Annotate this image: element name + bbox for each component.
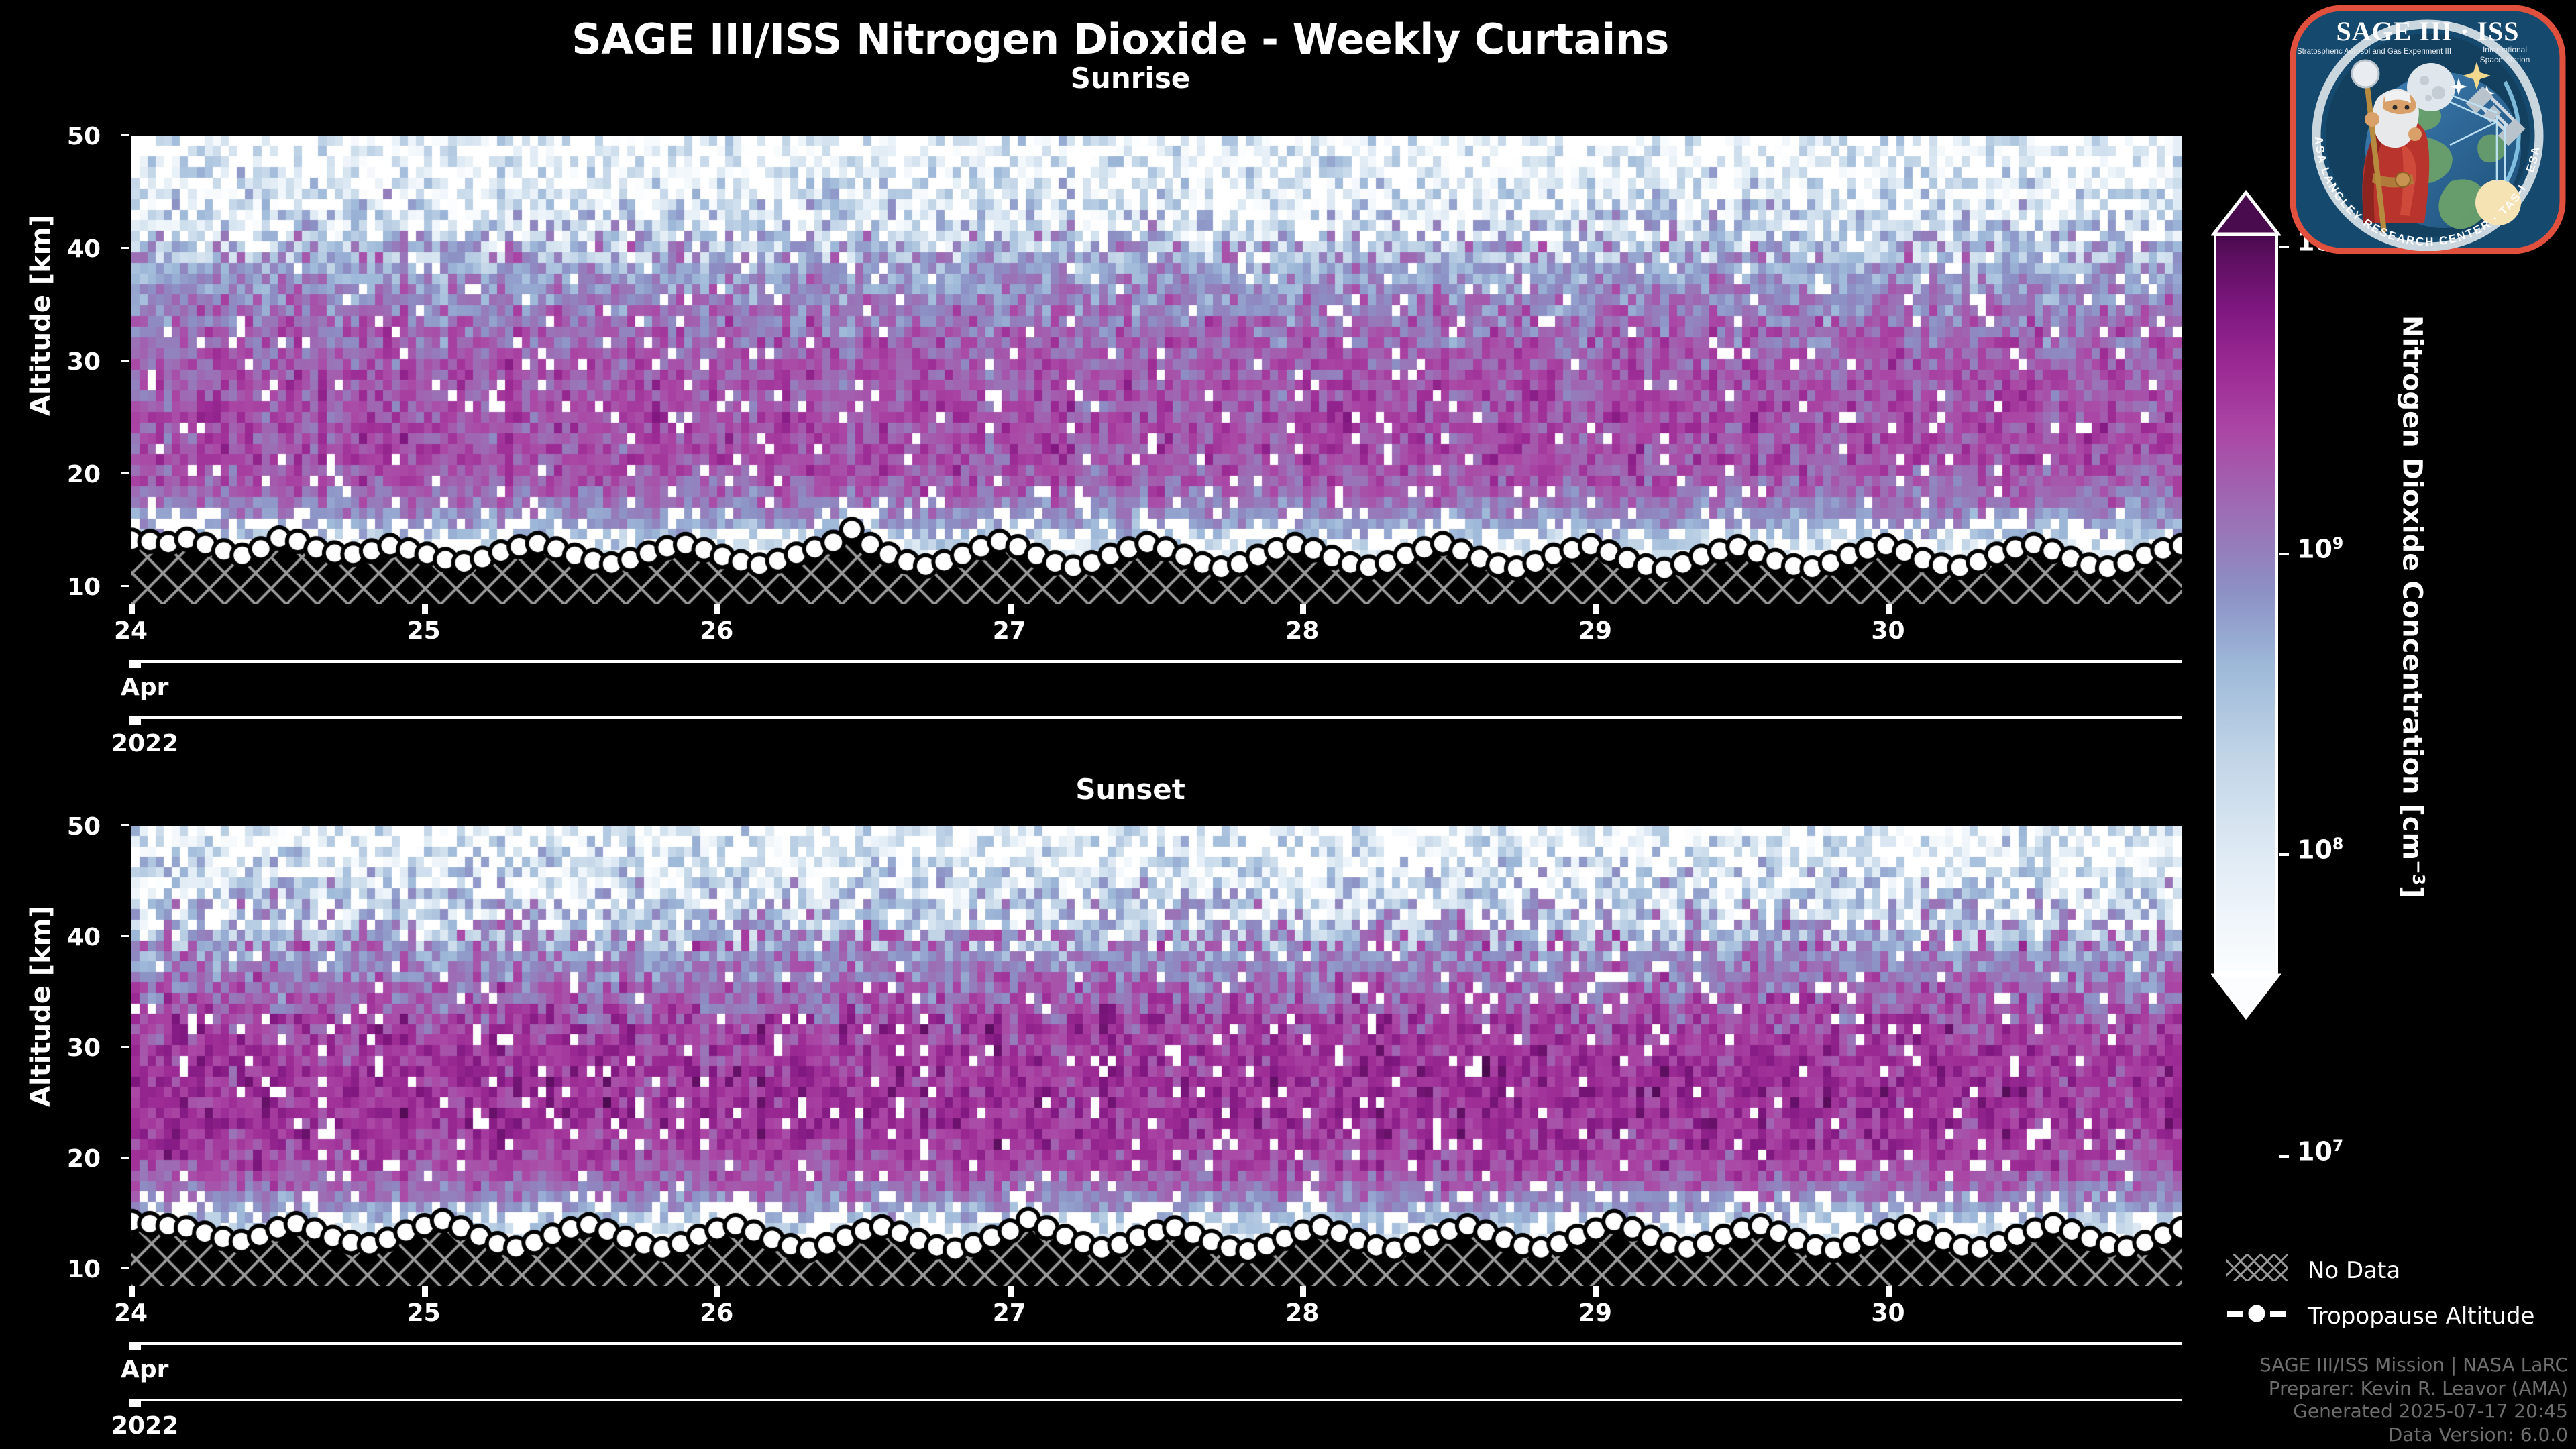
- x-tick-label-26: 26: [700, 617, 733, 645]
- y-tick-20-sunrise: 20: [27, 461, 101, 488]
- colorbar-tick-label-1e8: 108: [2297, 835, 2343, 865]
- x-tick-label-25: 25: [407, 617, 441, 645]
- colorbar-extend-up-icon: [2211, 190, 2281, 238]
- logo-subtitle-right-1: International: [2483, 45, 2527, 54]
- heatmap-canvas-sunrise: [131, 136, 2182, 604]
- x-tick-mark-28: [1300, 1286, 1306, 1297]
- x-year-bracket-nub: [129, 1399, 141, 1407]
- figure-canvas: SAGE III/ISS Nitrogen Dioxide - Weekly C…: [0, 0, 2576, 1449]
- page-title: SAGE III/ISS Nitrogen Dioxide - Weekly C…: [0, 15, 2241, 64]
- x-tick-label-28: 28: [1285, 1299, 1319, 1327]
- logo-title: SAGE III · ISS: [2336, 16, 2519, 46]
- logo-subtitle-left: Stratospheric Aerosol and Gas Experiment…: [2297, 48, 2451, 56]
- colorbar-tick-mark-1e7: [2279, 1155, 2289, 1158]
- colorbar-tick-mark-1e8: [2279, 853, 2289, 856]
- x-tick-label-24: 24: [114, 1299, 148, 1327]
- colorbar-axis-label: Nitrogen Dioxide Concentration [cm−3]: [2397, 315, 2428, 898]
- colorbar-axis-label-tail: ]: [2397, 885, 2428, 898]
- y-tick-mark-50-sunset: [121, 824, 129, 826]
- colorbar-extend-down-icon: [2211, 971, 2281, 1020]
- x-tick-label-27: 27: [993, 1299, 1026, 1327]
- x-tick-mark-27: [1008, 1286, 1014, 1297]
- colorbar-tick-exponent-1e8: 8: [2332, 835, 2343, 853]
- x-tick-label-25: 25: [407, 1299, 441, 1327]
- y-tick-10-sunrise: 10: [27, 574, 101, 601]
- y-tick-mark-50-sunrise: [121, 134, 129, 136]
- x-tick-mark-29: [1593, 1286, 1599, 1297]
- colorbar-tick-mantissa-1e9: 10: [2297, 535, 2332, 564]
- x-tick-label-26: 26: [700, 1299, 733, 1327]
- x-month-bracket-nub: [129, 660, 141, 668]
- x-year-bracket-line: [131, 716, 2182, 719]
- x-tick-label-30: 30: [1871, 1299, 1904, 1327]
- heatmap-plot-sunset[interactable]: [131, 826, 2182, 1286]
- colorbar-tick-mark-1e9: [2279, 553, 2289, 555]
- colorbar-tick-exponent-1e7: 7: [2332, 1136, 2343, 1155]
- y-tick-mark-10-sunset: [121, 1267, 129, 1269]
- x-tick-mark-25: [422, 604, 428, 614]
- x-year-bracket-nub: [129, 716, 141, 724]
- y-tick-mark-30-sunrise: [121, 360, 129, 362]
- y-tick-mark-20-sunset: [121, 1157, 129, 1159]
- x-tick-mark-30: [1886, 1286, 1892, 1297]
- colorbar-tick-label-1e9: 109: [2297, 534, 2343, 564]
- x-year-label: 2022: [111, 730, 178, 757]
- footer-line-preparer: Preparer: Kevin R. Leavor (AMA): [2259, 1377, 2568, 1401]
- x-year-bracket-line: [131, 1399, 2182, 1401]
- tropopause-marker-icon: [2226, 1300, 2288, 1327]
- footer-line-version: Data Version: 6.0.0: [2259, 1424, 2568, 1447]
- y-tick-40-sunset: 40: [27, 924, 101, 951]
- x-tick-mark-29: [1593, 604, 1599, 614]
- x-month-label: Apr: [121, 674, 168, 701]
- x-tick-label-24: 24: [114, 617, 148, 645]
- x-tick-mark-30: [1886, 604, 1892, 614]
- heatmap-plot-sunrise[interactable]: [131, 136, 2182, 604]
- x-tick-mark-28: [1300, 604, 1306, 614]
- x-tick-label-29: 29: [1578, 1299, 1612, 1327]
- footer-line-generated: Generated 2025-07-17 20:45: [2259, 1400, 2568, 1424]
- colorbar-axis-label-main: Nitrogen Dioxide Concentration [cm: [2397, 315, 2428, 860]
- y-tick-10-sunset: 10: [27, 1256, 101, 1283]
- x-month-bracket-line: [131, 1342, 2182, 1345]
- x-tick-mark-27: [1008, 604, 1014, 614]
- x-year-label: 2022: [111, 1412, 178, 1440]
- x-tick-label-29: 29: [1578, 617, 1612, 645]
- colorbar-tick-mantissa-1e7: 10: [2297, 1137, 2332, 1167]
- y-tick-mark-30-sunset: [121, 1046, 129, 1048]
- x-tick-label-30: 30: [1871, 617, 1904, 645]
- y-tick-30-sunrise: 30: [27, 348, 101, 376]
- y-tick-50-sunset: 50: [27, 813, 101, 841]
- no-data-hatch-icon: [2226, 1254, 2288, 1281]
- colorbar-axis-label-exponent: −3: [2409, 860, 2428, 885]
- colorbar-tick-mantissa-1e8: 10: [2297, 835, 2332, 865]
- x-month-label: Apr: [121, 1356, 168, 1383]
- panel-title-sunrise: Sunrise: [80, 62, 2180, 95]
- x-tick-mark-25: [422, 1286, 428, 1297]
- logo-subtitle-right-2: Space Station: [2480, 55, 2530, 64]
- y-tick-mark-20-sunrise: [121, 472, 129, 474]
- y-tick-30-sunset: 30: [27, 1034, 101, 1062]
- y-tick-mark-40-sunset: [121, 935, 129, 937]
- footer-credits: SAGE III/ISS Mission | NASA LaRC Prepare…: [2259, 1354, 2568, 1447]
- x-tick-label-27: 27: [993, 617, 1026, 645]
- x-month-bracket-nub: [129, 1342, 141, 1350]
- footer-line-mission: SAGE III/ISS Mission | NASA LaRC: [2259, 1354, 2568, 1377]
- colorbar-tick-label-1e7: 107: [2297, 1136, 2343, 1167]
- legend-label-tropopause: Tropopause Altitude: [2308, 1303, 2534, 1330]
- x-tick-mark-24: [129, 604, 135, 614]
- colorbar-tick-exponent-1e9: 9: [2332, 534, 2343, 553]
- sage-iii-iss-logo: SAGE III · ISS Stratospheric Aerosol and…: [2284, 1, 2572, 258]
- x-tick-mark-26: [714, 604, 720, 614]
- x-tick-label-28: 28: [1285, 617, 1319, 645]
- y-tick-50-sunrise: 50: [27, 123, 101, 150]
- sage-logo-graphic: SAGE III · ISS Stratospheric Aerosol and…: [2284, 1, 2572, 258]
- y-tick-mark-10-sunrise: [121, 585, 129, 587]
- x-tick-mark-26: [714, 1286, 720, 1297]
- colorbar-gradient: [2214, 233, 2278, 974]
- x-month-bracket-line: [131, 660, 2182, 663]
- legend-label-no-data: No Data: [2308, 1257, 2400, 1284]
- y-tick-mark-40-sunrise: [121, 247, 129, 249]
- y-tick-20-sunset: 20: [27, 1145, 101, 1173]
- heatmap-canvas-sunset: [131, 826, 2182, 1286]
- x-tick-mark-24: [129, 1286, 135, 1297]
- panel-title-sunset: Sunset: [80, 773, 2180, 806]
- y-tick-40-sunrise: 40: [27, 235, 101, 263]
